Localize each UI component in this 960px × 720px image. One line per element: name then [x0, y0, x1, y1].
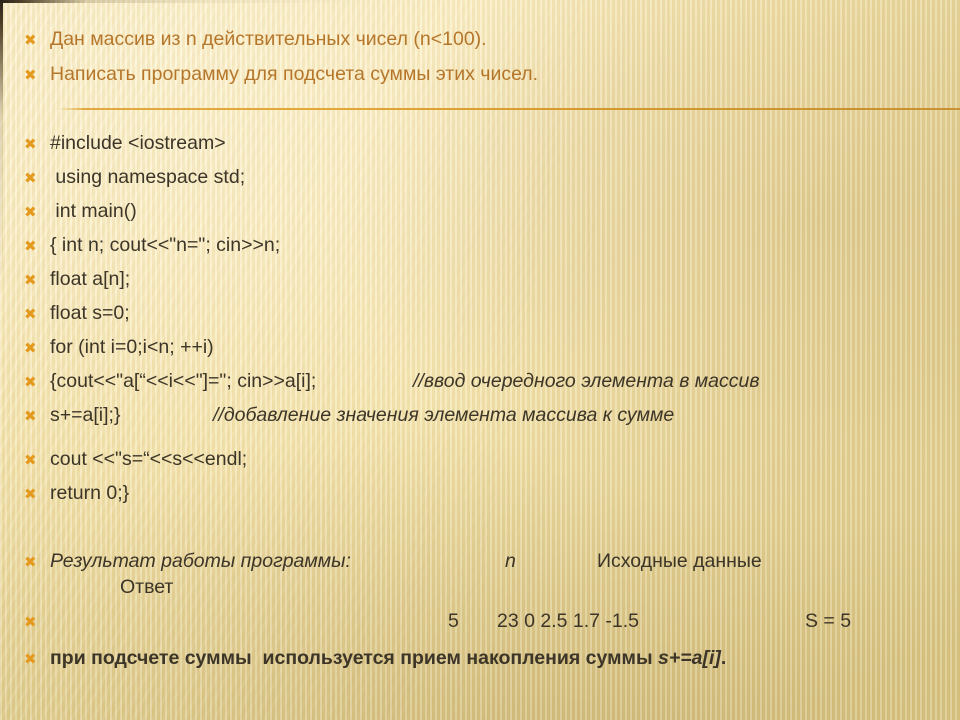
bullet-icon: ✖ — [24, 548, 50, 570]
bullet-icon: ✖ — [24, 130, 50, 152]
code-bullet-return: ✖ return 0;} — [24, 480, 129, 506]
bullet-icon: ✖ — [24, 26, 50, 48]
note-code: s+=a[i] — [658, 647, 721, 669]
result-value-answer: S = 5 — [805, 608, 851, 634]
note-suffix: . — [721, 647, 726, 669]
bullet-icon: ✖ — [24, 61, 50, 83]
result-label: Результат работы программы: — [50, 548, 351, 574]
bullet-icon: ✖ — [24, 446, 50, 468]
code-line-6: for (int i=0;i<n; ++i) — [50, 334, 214, 360]
code-bullet-4: ✖ float a[n]; — [24, 266, 130, 292]
code-line-3: { int n; cout<<"n="; cin>>n; — [50, 232, 280, 258]
bullet-icon: ✖ — [24, 266, 50, 288]
code-bullet-5: ✖ float s=0; — [24, 300, 130, 326]
code-comment-sum: //добавление значения элемента массива к… — [213, 402, 674, 428]
task-line-1: Дан массив из n действительных чисел (n<… — [50, 26, 487, 52]
code-line-input: {cout<<"a[“<<i<<"]="; cin>>a[i]; — [50, 368, 316, 394]
code-bullet-2: ✖ int main() — [24, 198, 137, 224]
code-bullet-0: ✖ #include <iostream> — [24, 130, 226, 156]
bullet-icon: ✖ — [24, 334, 50, 356]
bullet-icon: ✖ — [24, 164, 50, 186]
result-bullet-header: ✖ Результат работы программы: — [24, 548, 351, 574]
code-line-5: float s=0; — [50, 300, 130, 326]
bullet-icon: ✖ — [24, 232, 50, 254]
code-line-return: return 0;} — [50, 480, 129, 506]
result-value-input: 23 0 2.5 1.7 -1.5 — [497, 608, 639, 634]
code-bullet-6: ✖ for (int i=0;i<n; ++i) — [24, 334, 214, 360]
result-col-answer-header: Ответ — [120, 574, 173, 600]
section-divider — [58, 108, 960, 110]
code-line-sum: s+=a[i];} — [50, 402, 120, 428]
bullet-icon: ✖ — [24, 402, 50, 424]
note-text: при подсчете суммы используется прием на… — [50, 645, 726, 671]
code-line-1: using namespace std; — [50, 164, 245, 190]
slide-content: ✖ Дан массив из n действительных чисел (… — [0, 0, 960, 720]
result-col-n-header: n — [505, 548, 516, 574]
code-bullet-output: ✖ cout <<"s=“<<s<<endl; — [24, 446, 247, 472]
bullet-icon: ✖ — [24, 368, 50, 390]
code-line-4: float a[n]; — [50, 266, 130, 292]
bullet-icon: ✖ — [24, 480, 50, 502]
bullet-icon: ✖ — [24, 300, 50, 322]
bullet-icon: ✖ — [24, 198, 50, 220]
task-bullet-1: ✖ Дан массив из n действительных чисел (… — [24, 26, 487, 52]
code-bullet-sum: ✖ s+=a[i];} — [24, 402, 120, 428]
code-bullet-1: ✖ using namespace std; — [24, 164, 245, 190]
bullet-icon: ✖ — [24, 608, 50, 630]
note-prefix: при подсчете суммы используется прием на… — [50, 647, 658, 669]
result-value-n: 5 — [448, 608, 459, 634]
code-bullet-input: ✖ {cout<<"a[“<<i<<"]="; cin>>a[i]; — [24, 368, 316, 394]
result-col-input-header: Исходные данные — [597, 548, 762, 574]
result-bullet-values: ✖ — [24, 608, 50, 630]
code-line-0: #include <iostream> — [50, 130, 226, 156]
slide-canvas: ✖ Дан массив из n действительных чисел (… — [0, 0, 960, 720]
code-comment-input: //ввод очередного элемента в массив — [413, 368, 760, 394]
task-line-2: Написать программу для подсчета суммы эт… — [50, 61, 538, 87]
bullet-icon: ✖ — [24, 645, 50, 667]
code-bullet-3: ✖ { int n; cout<<"n="; cin>>n; — [24, 232, 280, 258]
note-bullet: ✖ при подсчете суммы используется прием … — [24, 645, 726, 671]
code-line-output: cout <<"s=“<<s<<endl; — [50, 446, 247, 472]
code-line-2: int main() — [50, 198, 137, 224]
task-bullet-2: ✖ Написать программу для подсчета суммы … — [24, 61, 538, 87]
